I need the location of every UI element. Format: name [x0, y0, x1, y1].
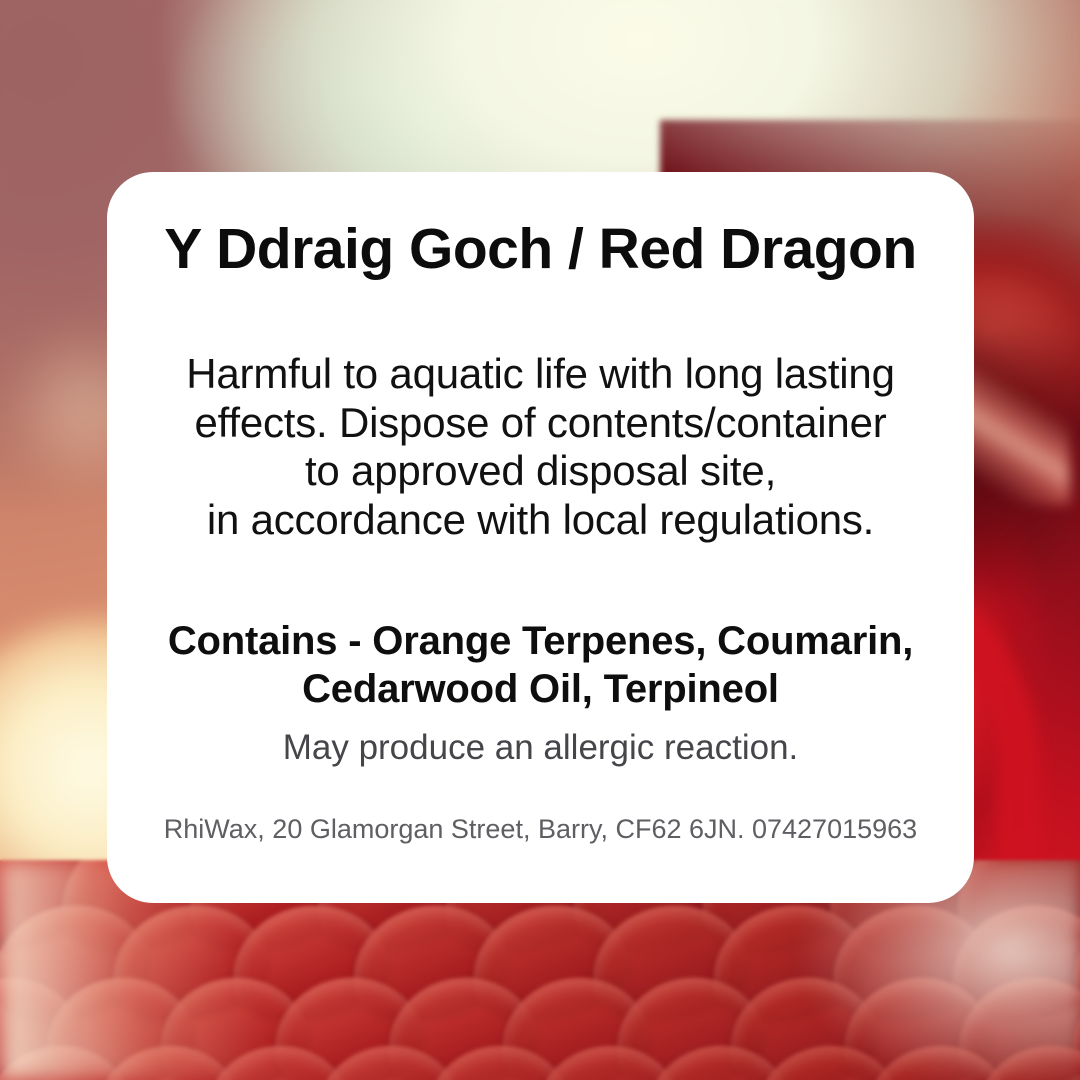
- hazard-statement-line-2: effects. Dispose of contents/container: [133, 399, 948, 448]
- hazard-statement: Harmful to aquatic life with long lastin…: [133, 280, 948, 545]
- contains-ingredients: Contains - Orange Terpenes, Coumarin, Ce…: [133, 545, 948, 713]
- product-label-card: Y Ddraig Goch / Red Dragon Harmful to aq…: [107, 172, 974, 903]
- contains-line-2: Cedarwood Oil, Terpineol: [133, 665, 948, 713]
- hazard-statement-line-1: Harmful to aquatic life with long lastin…: [133, 350, 948, 399]
- allergy-warning: May produce an allergic reaction.: [133, 713, 948, 769]
- manufacturer-address: RhiWax, 20 Glamorgan Street, Barry, CF62…: [133, 769, 948, 845]
- label-image-canvas: Y Ddraig Goch / Red Dragon Harmful to aq…: [0, 0, 1080, 1080]
- contains-line-1: Contains - Orange Terpenes, Coumarin,: [133, 617, 948, 665]
- hazard-statement-line-3: to approved disposal site,: [133, 447, 948, 496]
- hazard-statement-line-4: in accordance with local regulations.: [133, 496, 948, 545]
- page-title: Y Ddraig Goch / Red Dragon: [133, 172, 948, 280]
